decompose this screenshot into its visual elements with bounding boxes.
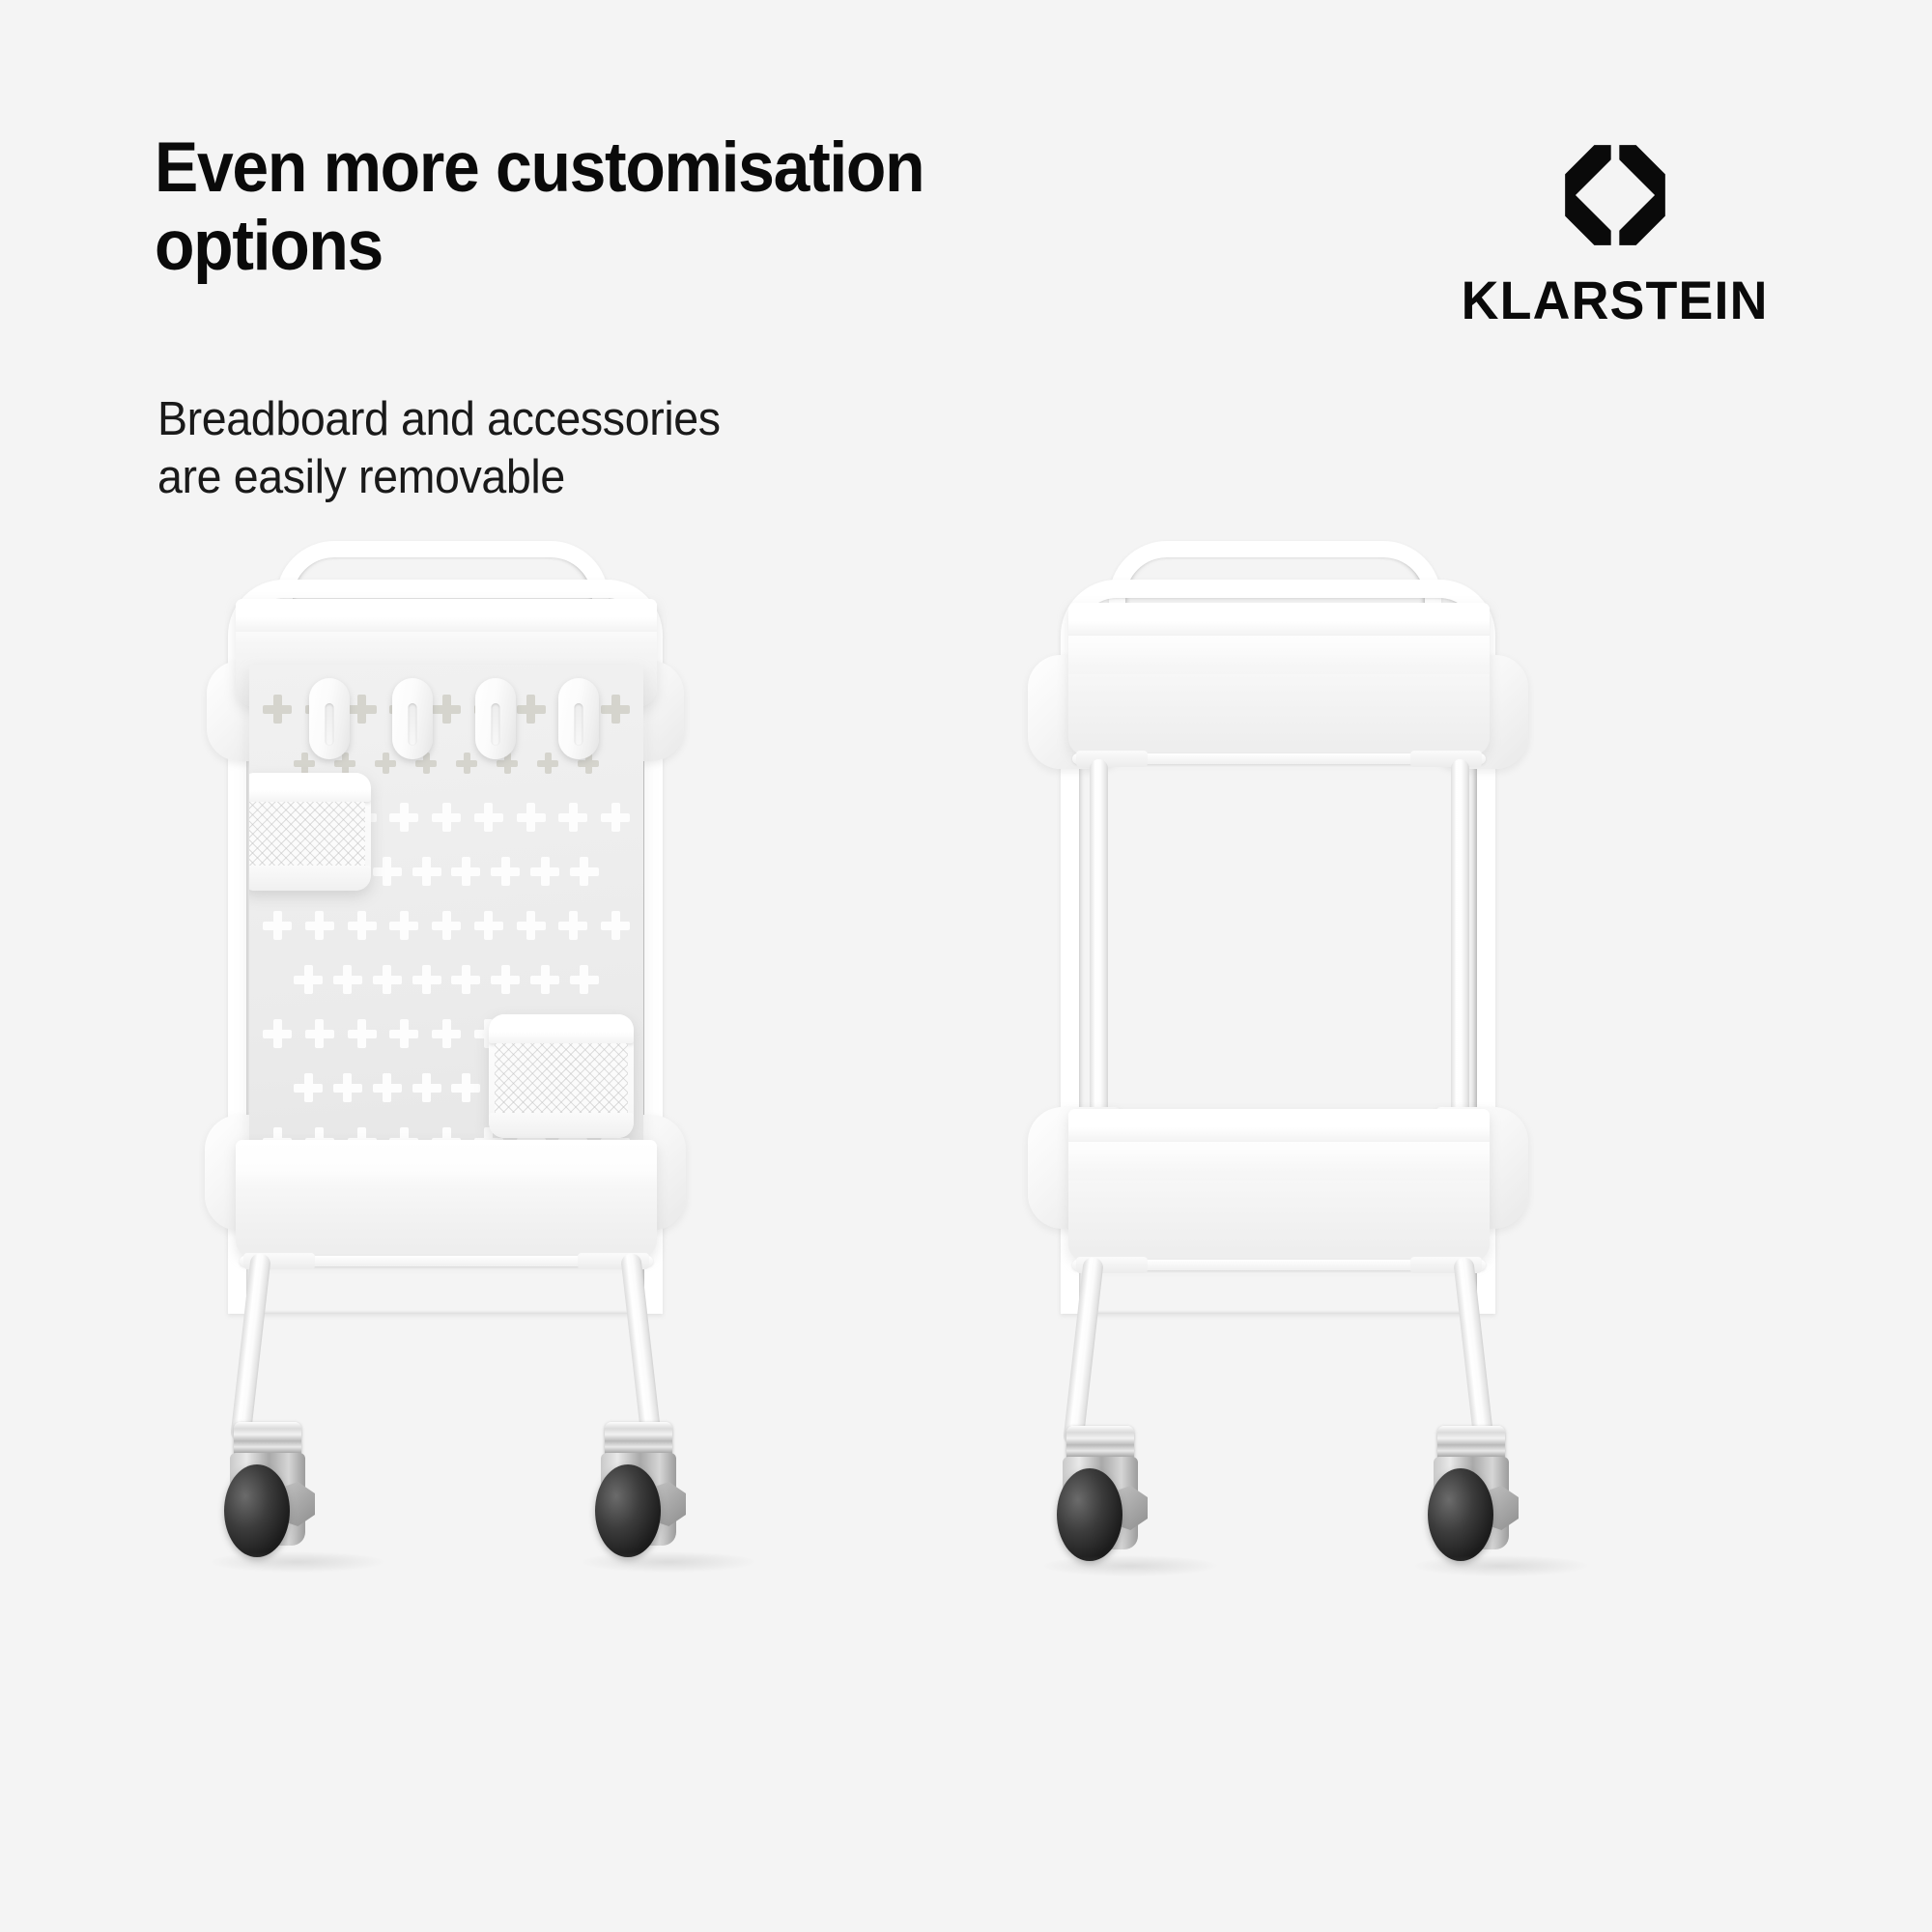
pegboard-cross-hole [294,753,315,774]
basket-mesh [495,1043,628,1113]
pegboard-cross-hole [263,695,292,724]
pegboard-cross-hole [263,1019,292,1048]
peg-hook[interactable] [475,678,516,759]
shelf-bracket-left [1076,751,1148,767]
pegboard-cross-hole [412,965,441,994]
peg-hook[interactable] [558,678,599,759]
swivel-caster-wheel[interactable] [1428,1426,1517,1571]
floor-shadow [582,1551,755,1573]
shelf-top-lip [236,599,657,632]
pegboard-cross-hole [348,911,377,940]
pegboard-cross-hole [432,1019,461,1048]
peg-hook[interactable] [309,678,350,759]
floor-shadow [1414,1555,1588,1577]
pegboard-cross-hole [601,803,630,832]
pegboard-cross-hole [530,965,559,994]
swivel-caster-wheel[interactable] [595,1422,684,1567]
pegboard-cross-hole [601,695,630,724]
pegboard-cross-hole [451,857,480,886]
pegboard-cross-hole [570,857,599,886]
pegboard-cross-hole [537,753,558,774]
pegboard-cross-hole [375,753,396,774]
shelf-bottom-face [236,1186,657,1258]
basket-mesh [249,802,365,866]
pegboard-cross-hole [474,803,503,832]
floor-shadow [1043,1555,1217,1577]
pegboard-cross-hole [432,911,461,940]
pegboard-cross-hole [294,1073,323,1102]
shelf-bottom [236,1140,657,1258]
page-headline: Even more customisation options [155,128,1053,285]
product-feature-page: Even more customisation options Breadboa… [0,0,1932,1932]
pegboard-cross-hole [373,857,402,886]
caster-wheel-tread [1428,1468,1493,1561]
pegboard-cross-hole [348,695,377,724]
mesh-basket[interactable] [489,1014,634,1138]
pegboard-cross-hole [517,695,546,724]
brand-wordmark: KLARSTEIN [1462,269,1769,331]
floor-shadow [211,1551,384,1573]
caster-wheel-tread [1057,1468,1122,1561]
pegboard-cross-hole [451,1073,480,1102]
caster-wheel-tread [224,1464,290,1557]
pegboard-cross-hole [263,911,292,940]
pegboard-cross-hole [294,965,323,994]
page-subtitle: Breadboard and accessories are easily re… [157,391,983,507]
pegboard-cross-hole [432,803,461,832]
pegboard-cross-hole [601,911,630,940]
pegboard-cross-hole [389,911,418,940]
pegboard-cross-hole [517,803,546,832]
cart-front-with-pegboard [211,541,945,1932]
pegboard-cross-hole [530,857,559,886]
pegboard-cross-hole [570,965,599,994]
pegboard-cross-hole [333,965,362,994]
pegboard-cross-hole [389,1019,418,1048]
pegboard-cross-hole [305,911,334,940]
shelf-bracket-right [1410,751,1482,767]
frame-post-right [1451,759,1469,1144]
pegboard-cross-hole [412,1073,441,1102]
pegboard-cross-hole [456,753,477,774]
pegboard-cross-hole [451,965,480,994]
basket-base [249,866,371,891]
pegboard-cross-hole [558,803,587,832]
basket-base [489,1113,634,1138]
shelf-top-lip [1068,603,1490,636]
pegboard-cross-hole [333,1073,362,1102]
cart-side-plain [1043,541,1777,1932]
pegboard-cross-hole [517,911,546,940]
pegboard-hole-row [263,898,630,952]
pegboard-cross-hole [348,1019,377,1048]
mesh-basket[interactable] [249,773,371,891]
klarstein-octagon-diamond-logo [1563,143,1667,247]
swivel-caster-wheel[interactable] [1057,1426,1146,1571]
pegboard-cross-hole [305,1019,334,1048]
shelf-bottom-lip [1068,1109,1490,1142]
pegboard-cross-hole [373,1073,402,1102]
pegboard-cross-hole [412,857,441,886]
pegboard-cross-hole [389,803,418,832]
swivel-caster-wheel[interactable] [224,1422,313,1567]
brand-logo: KLARSTEIN [1441,143,1789,331]
shelf-top [1068,603,1490,755]
shelf-top-face [1068,674,1490,755]
basket-rim [249,773,371,802]
shelf-bottom-face [1068,1180,1490,1262]
caster-wheel-tread [595,1464,661,1557]
product-stage [0,541,1932,1932]
shelf-bottom [1068,1109,1490,1262]
pegboard-cross-hole [474,911,503,940]
pegboard-cross-hole [491,965,520,994]
pegboard-cross-hole [432,695,461,724]
basket-rim [489,1014,634,1043]
peg-hook[interactable] [392,678,433,759]
frame-post-left [1090,759,1108,1144]
pegboard-hole-row [263,952,630,1007]
pegboard-cross-hole [373,965,402,994]
pegboard-cross-hole [558,911,587,940]
pegboard-cross-hole [491,857,520,886]
